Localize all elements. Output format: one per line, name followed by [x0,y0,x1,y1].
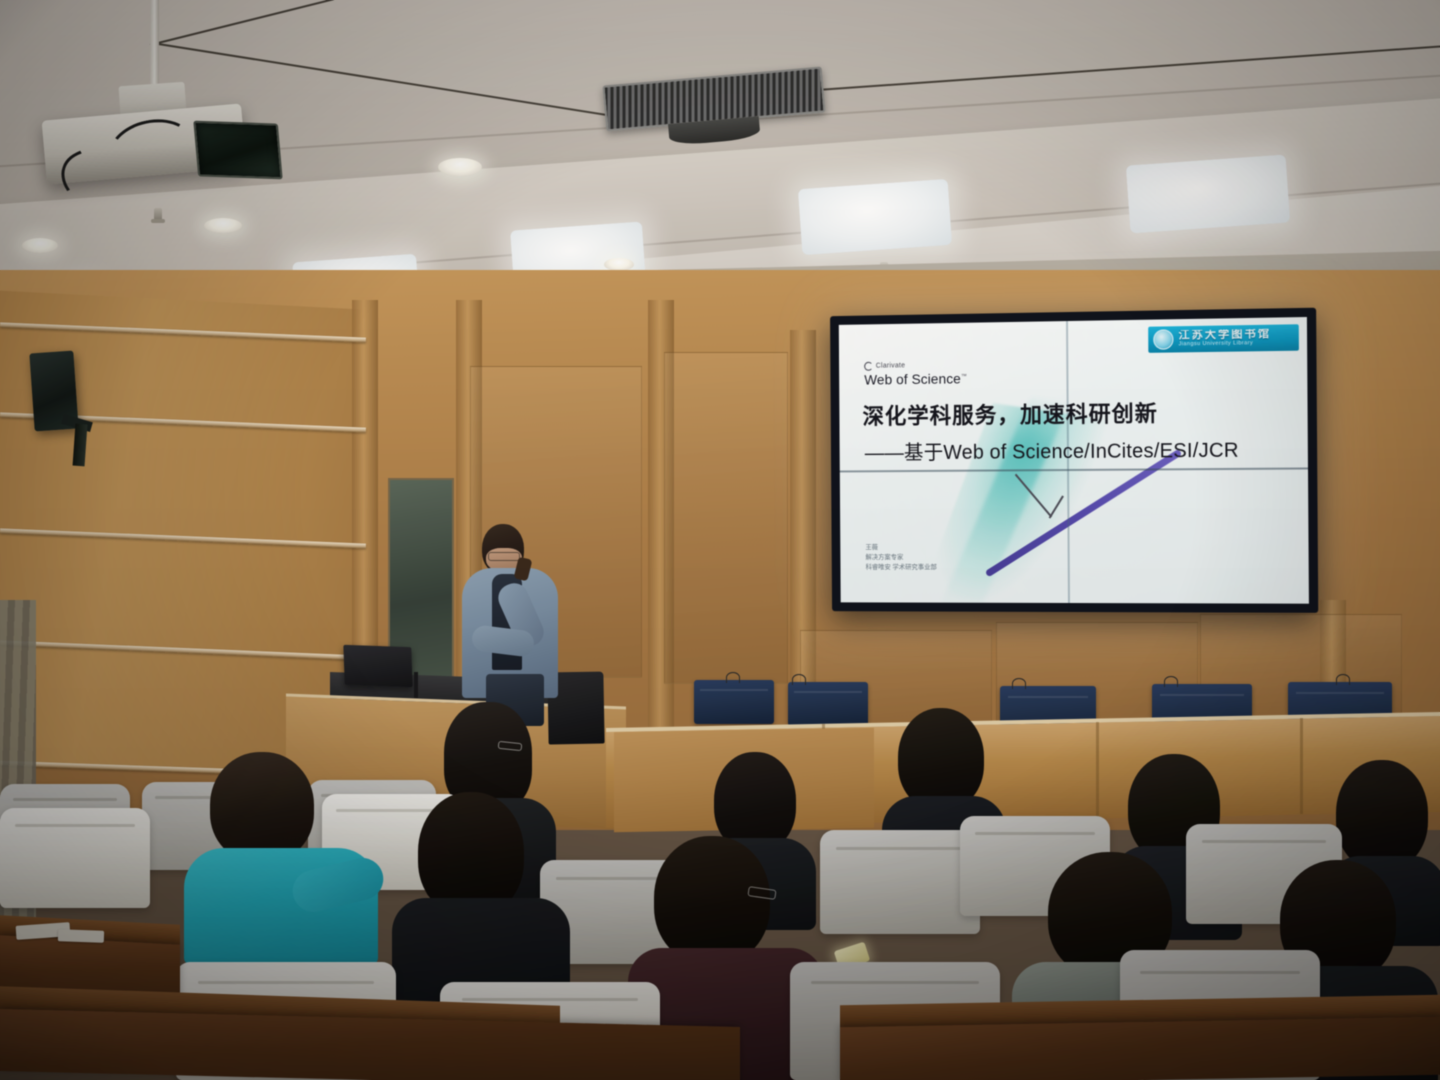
navy-chair [694,680,774,724]
slide-title: 深化学科服务，加速科研创新 [862,396,1157,431]
slide-subtitle: ——基于Web of Science/InCites/ESI/JCR [865,433,1239,465]
video-wall-display[interactable]: Clarivate Web of Science™ 江苏大学图书馆 Jiangs… [830,308,1318,613]
audience-head [898,708,984,810]
library-name-en: Jiangsu University Library [1179,341,1272,348]
web-of-science-wordmark: Web of Science™ [864,370,967,387]
ceiling-downlight [204,218,242,233]
presenter-name: 王薇 [865,543,936,553]
ceiling-panel-light [798,179,952,255]
chair-hook [792,674,806,685]
audience-head [1336,760,1428,870]
ceiling-downlight [22,238,58,253]
library-logo-badge: 江苏大学图书馆 Jiangsu University Library [1148,324,1299,353]
trademark-symbol: ™ [961,374,967,380]
presenter-laptop-icon[interactable] [343,645,412,687]
ledge-divider [1096,722,1099,818]
slide-presenter-block: 王薇 解决方案专家 科睿唯安 学术研究事业部 [865,543,936,572]
presenter [462,524,558,724]
library-seal-icon [1153,329,1173,349]
audience-head [654,836,770,964]
navy-chair [788,682,868,726]
web-of-science-logo: Clarivate Web of Science™ [864,360,967,387]
wall-panel [664,352,788,684]
chair-hook [1164,676,1178,687]
presenter-glasses-icon [488,552,520,561]
library-name-block: 江苏大学图书馆 Jiangsu University Library [1178,329,1271,348]
clarivate-wordmark: Clarivate [864,360,967,370]
fire-sprinkler-icon [154,208,162,222]
library-name-cn: 江苏大学图书馆 [1178,329,1271,342]
product-name: Web of Science [864,370,961,387]
audience-head [210,752,314,862]
clarivate-mark-icon [864,362,873,371]
audience-member-teal-jacket [184,752,384,962]
lecture-hall-photo: Clarivate Web of Science™ 江苏大学图书馆 Jiangs… [0,0,1440,1080]
empty-seat [820,830,980,934]
presentation-slide: Clarivate Web of Science™ 江苏大学图书馆 Jiangs… [839,317,1309,604]
chair-hook [1012,678,1026,689]
ceiling-panel-light [1126,155,1290,234]
projector-mount-pole [150,0,159,92]
desk [840,1017,1440,1080]
microphone-stand [414,672,418,698]
ceiling-downlight [438,158,482,176]
projector-lens [193,121,282,180]
presenter-role: 解决方案专家 [865,553,936,563]
clarivate-label: Clarivate [876,362,905,369]
empty-seat [0,808,150,908]
presenter-org: 科睿唯安 学术研究事业部 [866,562,937,572]
ledge-divider [1300,718,1303,814]
chair-hook [726,672,740,683]
chair-hook [1336,674,1350,685]
paper-on-desk [58,929,104,943]
